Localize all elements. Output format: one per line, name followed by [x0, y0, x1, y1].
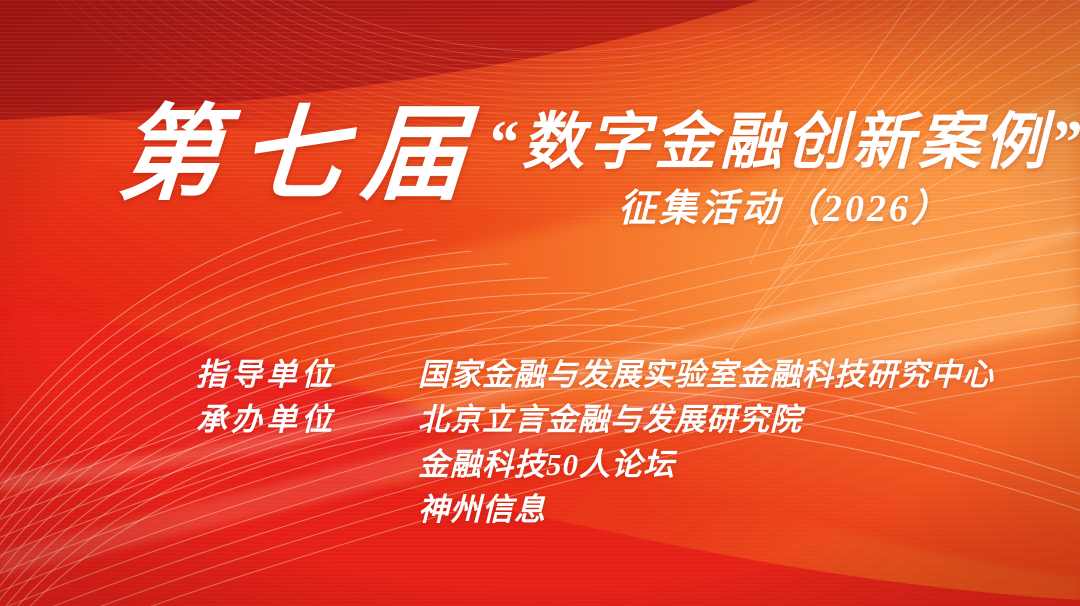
- credit-value: 北京立言金融与发展研究院: [418, 400, 802, 440]
- headline-quoted-title: “数字金融创新案例”: [487, 112, 1080, 174]
- headline-main: 第七届: [114, 104, 487, 208]
- credit-row: 神州信息: [0, 490, 1080, 535]
- poster-canvas: 第七届 “数字金融创新案例” 征集活动（2026） 指导单位 国家金融与发展实验…: [0, 0, 1080, 606]
- credit-value: 金融科技50人论坛: [418, 445, 675, 485]
- credit-value: 神州信息: [418, 490, 546, 530]
- poster-content: 第七届 “数字金融创新案例” 征集活动（2026） 指导单位 国家金融与发展实验…: [0, 0, 1080, 606]
- credit-label: 承办单位: [196, 400, 336, 440]
- credit-row: 承办单位 北京立言金融与发展研究院: [0, 400, 1080, 445]
- credit-row: 金融科技50人论坛: [0, 445, 1080, 490]
- credits-block: 指导单位 国家金融与发展实验室金融科技研究中心 承办单位 北京立言金融与发展研究…: [0, 355, 1080, 535]
- credit-value: 国家金融与发展实验室金融科技研究中心: [418, 355, 994, 395]
- headline-subtitle: 征集活动（2026）: [618, 190, 952, 228]
- credit-label: 指导单位: [196, 355, 336, 395]
- credit-row: 指导单位 国家金融与发展实验室金融科技研究中心: [0, 355, 1080, 400]
